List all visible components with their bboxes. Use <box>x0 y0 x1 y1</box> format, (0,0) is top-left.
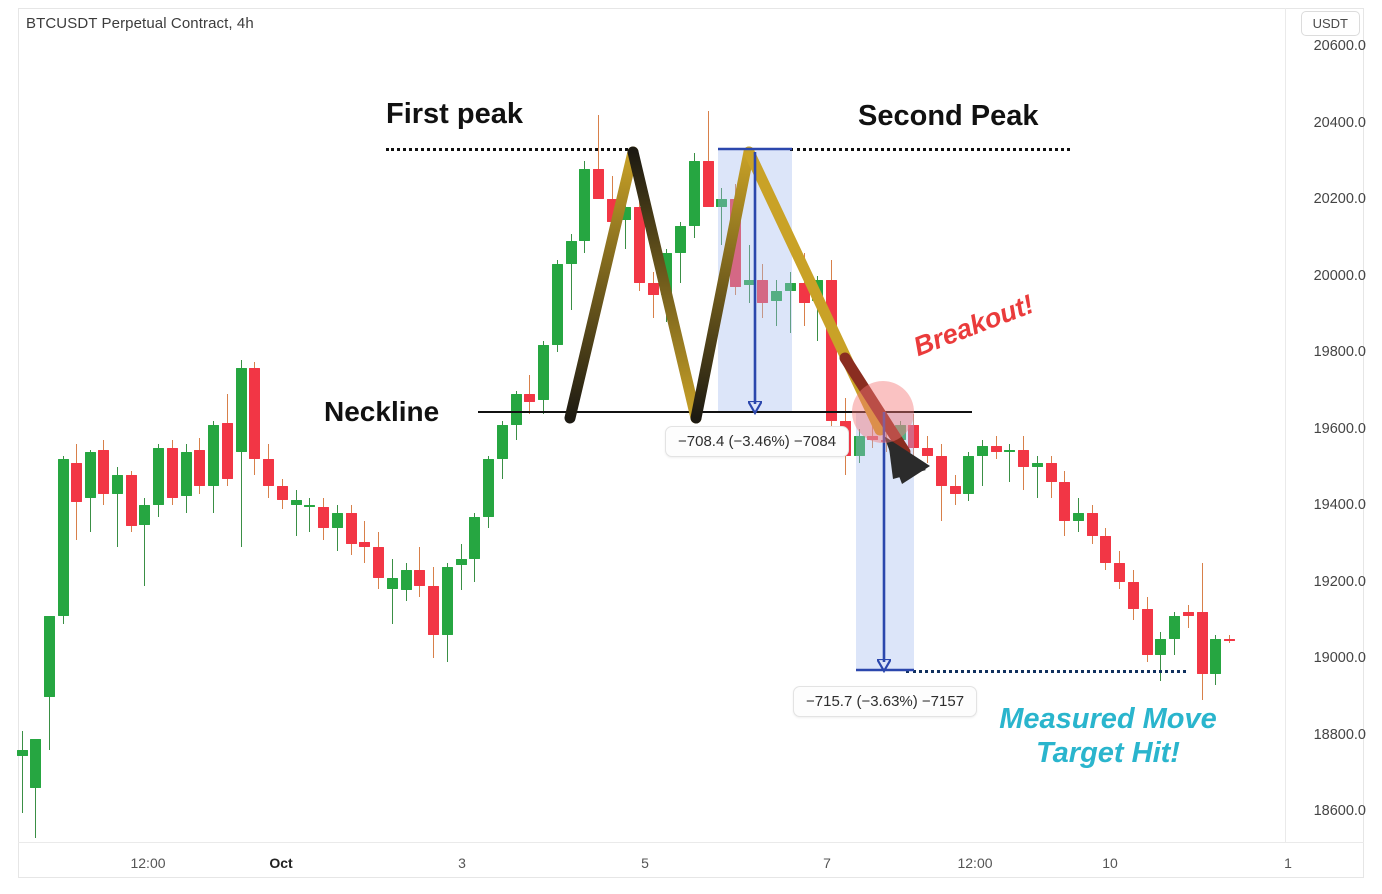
candle-body <box>469 517 480 559</box>
candle-body <box>1073 513 1084 521</box>
candle-body <box>17 750 28 756</box>
candle-body <box>44 616 55 696</box>
candle-body <box>607 199 618 222</box>
candle-body <box>703 161 714 207</box>
candle-body <box>511 394 522 425</box>
candle-body <box>1018 450 1029 467</box>
price-tick: 19600.0 <box>1314 421 1366 437</box>
candle-body <box>812 280 823 301</box>
candle-body <box>373 547 384 578</box>
candle-body <box>991 446 1002 452</box>
time-tick: 10 <box>1102 855 1118 871</box>
candle-wick <box>461 544 463 590</box>
candle-body <box>58 459 69 616</box>
price-tick: 19800.0 <box>1314 344 1366 360</box>
candle-body <box>71 463 82 501</box>
candle-body <box>1224 639 1235 641</box>
candle-body <box>1142 609 1153 655</box>
candle-wick <box>392 559 394 624</box>
price-tick: 18800.0 <box>1314 727 1366 743</box>
candle-body <box>552 264 563 344</box>
measure-zone-second <box>856 412 914 670</box>
neckline-label: Neckline <box>324 396 439 428</box>
candle-body <box>277 486 288 499</box>
chart-screenshot: BTCUSDT Perpetual Contract, 4h USDT <box>0 0 1382 894</box>
time-tick: 12:00 <box>130 855 165 871</box>
candle-body <box>497 425 508 459</box>
candle-body <box>222 423 233 478</box>
candle-body <box>1155 639 1166 654</box>
price-tick: 20600.0 <box>1314 38 1366 54</box>
target-label-line2: Target Hit! <box>963 736 1253 770</box>
second-peak-dotted-line <box>790 148 1070 151</box>
time-axis[interactable]: 12:00Oct35712:00101 <box>0 842 1382 894</box>
price-axis[interactable]: 20600.020400.020200.020000.019800.019600… <box>1286 0 1382 894</box>
candle-body <box>401 570 412 589</box>
candle-body <box>1128 582 1139 609</box>
candle-body <box>1183 612 1194 616</box>
candle-body <box>524 394 535 402</box>
measure-box-second: −715.7 (−3.63%) −7157 <box>793 686 977 717</box>
second-peak-label: Second Peak <box>858 100 1039 133</box>
candle-body <box>153 448 164 505</box>
candle-body <box>318 507 329 528</box>
candle-body <box>1210 639 1221 673</box>
candle-body <box>249 368 260 460</box>
candle-body <box>922 448 933 456</box>
candle-body <box>689 161 700 226</box>
candle-wick <box>1037 456 1039 498</box>
candle-wick <box>296 490 298 536</box>
time-tick: 5 <box>641 855 649 871</box>
measure-zone-first <box>718 148 792 412</box>
candle-body <box>483 459 494 516</box>
candle-body <box>126 475 137 527</box>
candle-body <box>456 559 467 565</box>
price-tick: 18600.0 <box>1314 803 1366 819</box>
candle-body <box>263 459 274 486</box>
candle-body <box>428 586 439 636</box>
candle-body <box>963 456 974 494</box>
candle-body <box>799 283 810 302</box>
candle-body <box>1114 563 1125 582</box>
candle-body <box>936 456 947 487</box>
time-tick: 1 <box>1284 855 1292 871</box>
candle-body <box>1087 513 1098 536</box>
candle-body <box>977 446 988 456</box>
candle-body <box>1197 612 1208 673</box>
candle-body <box>1100 536 1111 563</box>
candle-body <box>648 283 659 294</box>
time-tick: 7 <box>823 855 831 871</box>
candle-body <box>442 567 453 636</box>
candle-wick <box>653 272 655 318</box>
candle-body <box>98 450 109 494</box>
breakout-highlight-circle <box>852 381 914 443</box>
candle-wick <box>22 731 24 813</box>
candle-body <box>826 280 837 422</box>
price-tick: 19000.0 <box>1314 650 1366 666</box>
candle-body <box>112 475 123 494</box>
candle-body <box>1046 463 1057 482</box>
candle-body <box>634 207 645 284</box>
candle-body <box>85 452 96 498</box>
candle-body <box>1059 482 1070 520</box>
target-dotted-line <box>906 670 1186 673</box>
candle-body <box>593 169 604 200</box>
candle-body <box>387 578 398 589</box>
price-tick: 20400.0 <box>1314 115 1366 131</box>
candle-body <box>359 542 370 548</box>
candle-body <box>139 505 150 525</box>
candle-body <box>675 226 686 253</box>
candle-body <box>181 452 192 496</box>
first-peak-label: First peak <box>386 98 523 131</box>
candle-body <box>1169 616 1180 639</box>
candle-body <box>414 570 425 586</box>
price-tick: 20000.0 <box>1314 268 1366 284</box>
candle-body <box>30 739 41 789</box>
candle-body <box>1032 463 1043 467</box>
measure-box-first: −708.4 (−3.46%) −7084 <box>665 426 849 457</box>
candle-body <box>661 253 672 295</box>
candle-body <box>620 207 631 220</box>
candle-body <box>291 500 302 506</box>
candle-body <box>167 448 178 498</box>
price-tick: 20200.0 <box>1314 191 1366 207</box>
first-peak-dotted-line <box>386 148 634 151</box>
price-tick: 19400.0 <box>1314 497 1366 513</box>
time-tick: 12:00 <box>957 855 992 871</box>
measured-move-target-label: Measured Move Target Hit! <box>963 702 1253 770</box>
candle-body <box>579 169 590 242</box>
target-label-line1: Measured Move <box>963 702 1253 736</box>
price-tick: 19200.0 <box>1314 574 1366 590</box>
candle-body <box>1004 450 1015 452</box>
candle-body <box>194 450 205 486</box>
candle-body <box>332 513 343 528</box>
candle-wick <box>309 498 311 532</box>
time-tick: Oct <box>269 855 292 871</box>
candle-body <box>236 368 247 452</box>
time-tick: 3 <box>458 855 466 871</box>
candle-body <box>566 241 577 264</box>
candle-wick <box>625 195 627 249</box>
candle-wick <box>1188 605 1190 628</box>
candle-body <box>346 513 357 544</box>
candle-body <box>950 486 961 494</box>
candle-body <box>538 345 549 400</box>
candle-body <box>208 425 219 486</box>
